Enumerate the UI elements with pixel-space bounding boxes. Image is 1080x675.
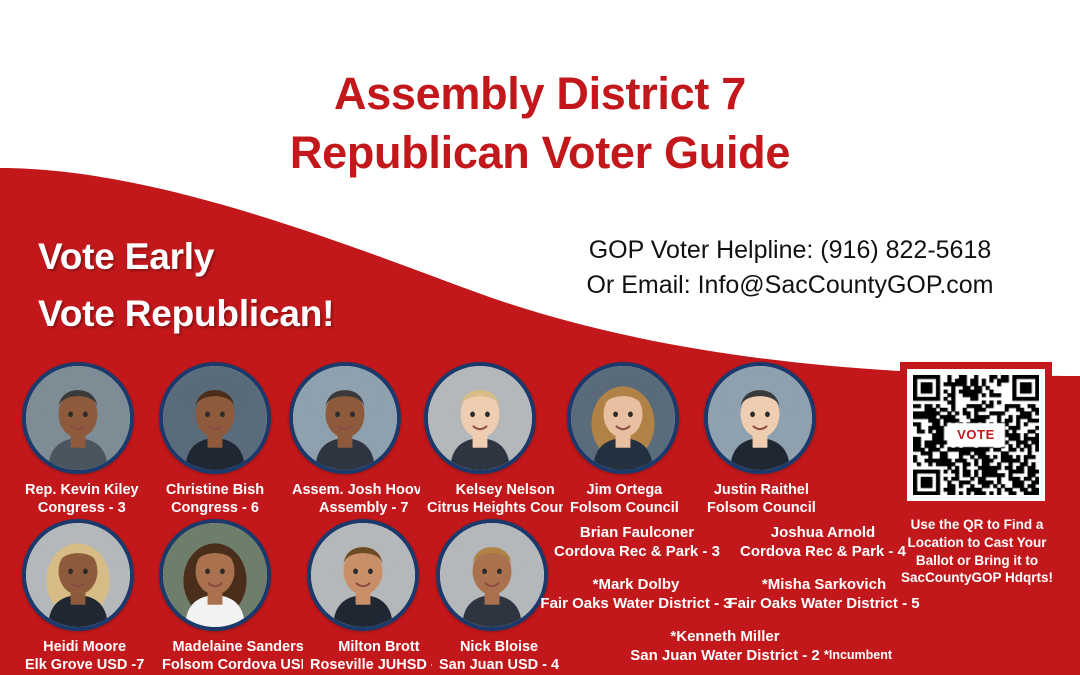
incumbent-footnote: *Incumbent bbox=[824, 648, 892, 662]
voter-helpline: GOP Voter Helpline: (916) 822-5618 Or Em… bbox=[540, 233, 1040, 302]
candidate-office: Congress - 6 bbox=[166, 500, 264, 518]
candidate-avatar bbox=[567, 362, 679, 474]
candidate-office: Folsom Council bbox=[570, 500, 679, 518]
candidate-name: Assem. Josh Hoover bbox=[292, 482, 435, 498]
slogan: Vote Early Vote Republican! bbox=[38, 228, 334, 343]
candidate-name-chip: Heidi MooreElk Grove USD -7 bbox=[18, 636, 151, 675]
voter-guide-poster: Assembly District 7 Republican Voter Gui… bbox=[0, 0, 1080, 675]
candidate-office: Congress - 3 bbox=[25, 500, 139, 518]
candidate-name: Madelaine Sanderson bbox=[172, 639, 321, 655]
helpline-email: Or Email: Info@SacCountyGOP.com bbox=[540, 268, 1040, 303]
candidate-name: Justin Raithel bbox=[714, 482, 809, 498]
slogan-line-1: Vote Early bbox=[38, 228, 334, 285]
candidate-office: Fair Oaks Water District - 3 bbox=[531, 595, 741, 614]
candidate-name: Joshua Arnold bbox=[771, 524, 875, 541]
candidate-name: Kelsey Nelson bbox=[456, 482, 555, 498]
candidate-card: Kelsey NelsonCitrus Heights Council bbox=[420, 362, 540, 521]
candidate-text-entry: Brian FaulconerCordova Rec & Park - 3 bbox=[537, 524, 737, 562]
candidate-name-chip: Rep. Kevin KileyCongress - 3 bbox=[18, 479, 146, 521]
qr-caption-line-4: SacCountyGOP Hdqrts! bbox=[901, 570, 1053, 585]
candidate-card: Assem. Josh HooverAssembly - 7 bbox=[285, 362, 405, 521]
candidate-name: *Kenneth Miller bbox=[670, 628, 779, 645]
candidate-name: Nick Bloise bbox=[460, 639, 538, 655]
candidate-text-entry: *Mark DolbyFair Oaks Water District - 3 bbox=[531, 576, 741, 614]
candidate-name: Rep. Kevin Kiley bbox=[25, 482, 139, 498]
candidate-avatar bbox=[289, 362, 401, 474]
candidate-card: Christine BishCongress - 6 bbox=[155, 362, 275, 521]
title-line-1: Assembly District 7 bbox=[334, 68, 746, 119]
candidate-office: Roseville JUHSD - 1 bbox=[310, 657, 448, 675]
candidate-avatar bbox=[159, 362, 271, 474]
candidate-name: Heidi Moore bbox=[43, 639, 126, 655]
qr-center-label: VOTE bbox=[952, 426, 1000, 444]
helpline-phone: GOP Voter Helpline: (916) 822-5618 bbox=[540, 233, 1040, 268]
candidate-office: Folsom Council bbox=[707, 500, 816, 518]
qr-code-inner: VOTE bbox=[907, 369, 1045, 501]
qr-caption-line-2: Location to Cast Your bbox=[907, 535, 1046, 550]
candidate-office: Assembly - 7 bbox=[292, 500, 435, 518]
candidate-card: Justin RaithelFolsom Council bbox=[700, 362, 820, 521]
qr-code-block[interactable]: VOTE bbox=[900, 362, 1052, 508]
slogan-line-2: Vote Republican! bbox=[38, 285, 334, 342]
candidate-name: Brian Faulconer bbox=[580, 524, 694, 541]
candidate-card: Madelaine SandersonFolsom Cordova USD - … bbox=[155, 519, 275, 675]
candidate-office: San Juan USD - 4 bbox=[439, 657, 559, 675]
candidate-card: Jim OrtegaFolsom Council bbox=[563, 362, 683, 521]
candidate-office: Fair Oaks Water District - 5 bbox=[719, 595, 929, 614]
candidate-avatar bbox=[307, 519, 419, 631]
candidate-name: *Mark Dolby bbox=[593, 576, 680, 593]
page-title: Assembly District 7 Republican Voter Gui… bbox=[0, 64, 1080, 183]
candidate-name-chip: Jim OrtegaFolsom Council bbox=[563, 479, 686, 521]
candidate-text-entry: *Kenneth MillerSan Juan Water District -… bbox=[620, 628, 830, 666]
candidate-avatar bbox=[436, 519, 548, 631]
candidate-avatar bbox=[424, 362, 536, 474]
title-line-2: Republican Voter Guide bbox=[0, 123, 1080, 182]
candidate-name-chip: Nick BloiseSan Juan USD - 4 bbox=[432, 636, 566, 675]
candidate-avatar bbox=[22, 362, 134, 474]
candidate-text-entry: Joshua ArnoldCordova Rec & Park - 4 bbox=[723, 524, 923, 562]
qr-caption-line-1: Use the QR to Find a bbox=[911, 517, 1044, 532]
candidate-name-chip: Assem. Josh HooverAssembly - 7 bbox=[285, 479, 442, 521]
candidate-office: San Juan Water District - 2 bbox=[620, 647, 830, 666]
candidate-office: Elk Grove USD -7 bbox=[25, 657, 144, 675]
qr-caption: Use the QR to Find a Location to Cast Yo… bbox=[896, 516, 1058, 587]
candidate-office: Citrus Heights Council bbox=[427, 500, 583, 518]
candidate-avatar bbox=[704, 362, 816, 474]
qr-caption-line-3: Ballot or Bring it to bbox=[916, 553, 1038, 568]
candidate-name-chip: Christine BishCongress - 6 bbox=[159, 479, 271, 521]
candidate-name: Milton Brott bbox=[338, 639, 419, 655]
candidate-card: Rep. Kevin KileyCongress - 3 bbox=[18, 362, 138, 521]
candidate-name: Christine Bish bbox=[166, 482, 264, 498]
candidate-card: Milton BrottRoseville JUHSD - 1 bbox=[303, 519, 423, 675]
candidate-avatar bbox=[159, 519, 271, 631]
candidate-office: Cordova Rec & Park - 3 bbox=[537, 543, 737, 562]
candidate-name-chip: Justin RaithelFolsom Council bbox=[700, 479, 823, 521]
candidate-avatar bbox=[22, 519, 134, 631]
candidate-name: *Misha Sarkovich bbox=[762, 576, 886, 593]
candidate-name: Jim Ortega bbox=[587, 482, 663, 498]
candidate-card: Heidi MooreElk Grove USD -7 bbox=[18, 519, 138, 675]
candidate-office: Cordova Rec & Park - 4 bbox=[723, 543, 923, 562]
